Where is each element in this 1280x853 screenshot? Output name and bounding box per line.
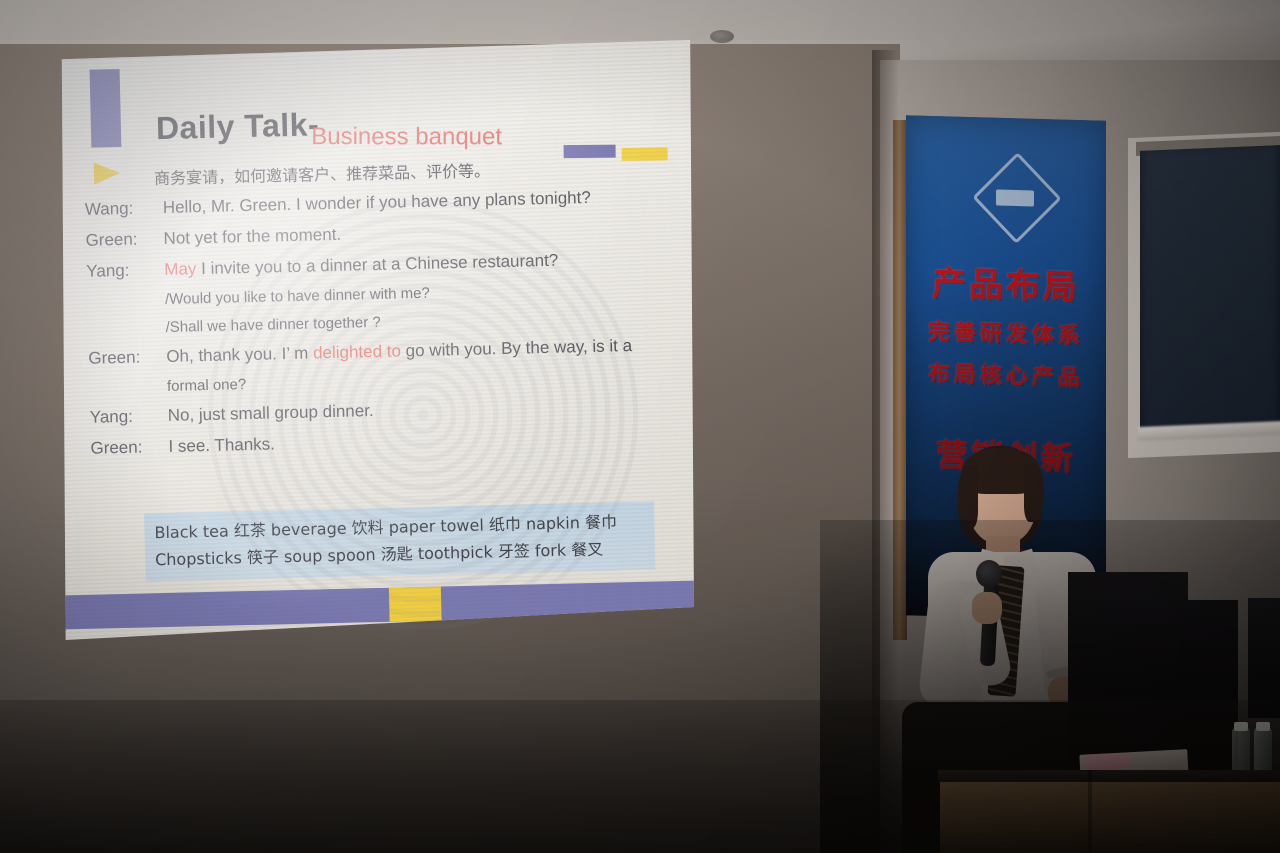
floor-shadow (0, 700, 1280, 853)
dialogue-speaker: Wang: (84, 193, 163, 225)
photo-scene: 产品布局 完善研发体系 布局核心产品 营销创新 端客户 伏先 Daily Tal… (0, 0, 1280, 853)
projected-slide: Daily Talk- Business banquet 商务宴请，如何邀请客户… (58, 40, 694, 640)
vocabulary-box: Black tea 红茶 beverage 饮料 paper towel 纸巾 … (144, 501, 655, 581)
projection-screen: Daily Talk- Business banquet 商务宴请，如何邀请客户… (58, 40, 698, 640)
slide-chinese-subtitle: 商务宴请，如何邀请客户、推荐菜品、评价等。 (154, 157, 490, 189)
dialogue-speaker: Yang: (89, 401, 168, 433)
bullet-arrow-icon (94, 162, 121, 185)
slide-bottom-yellow-block (389, 587, 442, 622)
dialogue-speaker: Green: (90, 432, 169, 464)
slide-bottom-bar (64, 580, 701, 629)
window-blind[interactable] (1140, 145, 1280, 439)
hair-left (958, 466, 978, 528)
slide-subtitle: Business banquet (311, 123, 502, 151)
dialogue-speaker: Yang: (86, 255, 165, 287)
slide-accent-purple-bar (90, 69, 122, 148)
highlighted-phrase: delighted to (313, 341, 401, 362)
slide-title: Daily Talk- (156, 106, 320, 147)
dialogue-speaker: Green: (88, 342, 167, 374)
slide-accent-bar-purple (564, 145, 616, 158)
dialogue-speaker: Green: (85, 224, 164, 256)
slide-accent-bar-yellow (622, 147, 668, 160)
highlighted-phrase: May (164, 259, 197, 279)
dialogue-list: Wang:Hello, Mr. Green. I wonder if you h… (84, 181, 680, 465)
